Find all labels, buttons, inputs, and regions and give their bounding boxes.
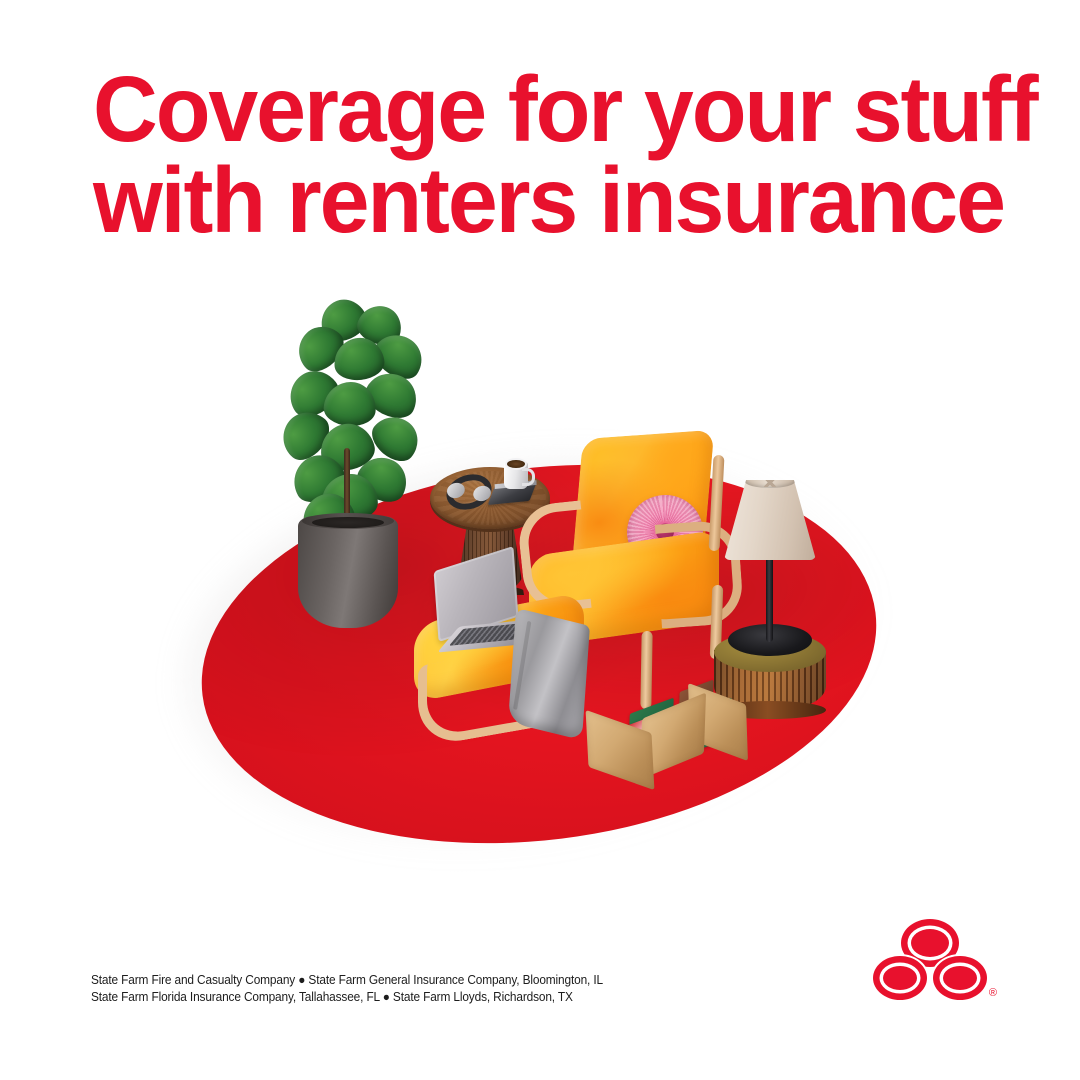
table-lamp	[700, 480, 835, 705]
product-scene-illustration	[0, 240, 1080, 920]
lamp-stem	[766, 554, 773, 642]
potted-rubber-plant	[262, 298, 442, 638]
legal-disclaimer: State Farm Fire and Casualty Company ● S…	[91, 972, 603, 1006]
orange-ottoman	[400, 592, 615, 752]
state-farm-logo: ®	[866, 917, 994, 1005]
headline-line-2: with renters insurance	[93, 155, 962, 246]
disclaimer-line-2: State Farm Florida Insurance Company, Ta…	[91, 989, 603, 1006]
registered-trademark-icon: ®	[989, 988, 997, 999]
page-title: Coverage for your stuff with renters ins…	[93, 64, 962, 246]
headline-line-1: Coverage for your stuff	[93, 64, 962, 155]
lamp-shade	[724, 480, 816, 560]
grey-blanket	[508, 608, 590, 740]
disclaimer-line-1: State Farm Fire and Casualty Company ● S…	[91, 972, 603, 989]
plant-pot	[298, 516, 398, 628]
magazine-rack	[585, 680, 750, 790]
pot-soil	[312, 517, 384, 528]
